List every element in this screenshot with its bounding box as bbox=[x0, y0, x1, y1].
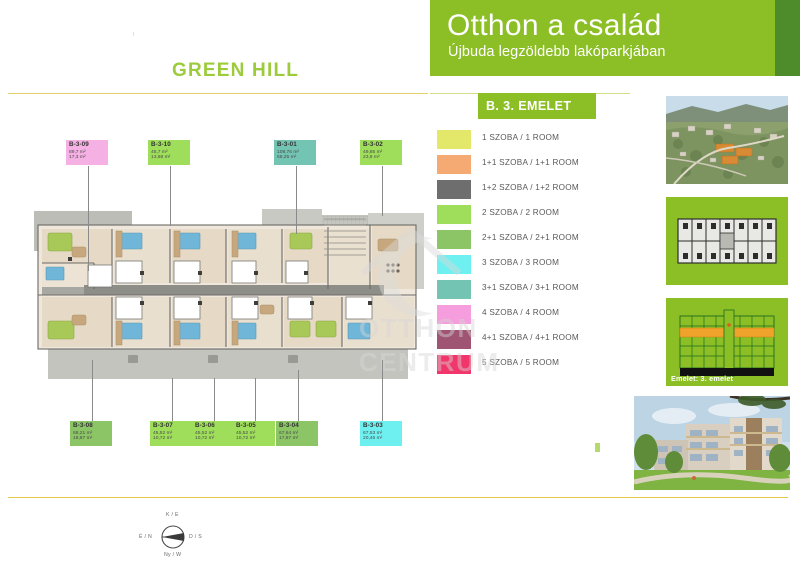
apartment-code: B-3-08 bbox=[73, 423, 112, 430]
apartment-callout[interactable]: B-3-0467,64 m²17,67 m² bbox=[276, 421, 318, 446]
callout-leader-line bbox=[92, 360, 93, 421]
header-title: Otthon a család bbox=[447, 9, 662, 43]
legend-label: 3 SZOBA / 3 ROOM bbox=[482, 258, 559, 267]
green-marker bbox=[595, 443, 600, 452]
callout-leader-line bbox=[296, 166, 297, 234]
legend-swatch bbox=[437, 155, 471, 174]
apartment-callout[interactable]: B-3-0989,7 m²17,3 m² bbox=[66, 140, 108, 165]
apartment-terrace-area: 10,72 m² bbox=[153, 436, 192, 441]
legend-label: 3+1 SZOBA / 3+1 ROOM bbox=[482, 283, 579, 292]
compass-label-left: É / N bbox=[139, 534, 152, 540]
legend-label: 1+2 SZOBA / 1+2 ROOM bbox=[482, 183, 579, 192]
apartment-terrace-area: 13,68 m² bbox=[151, 155, 190, 160]
legend-label: 5 SZOBA / 5 ROOM bbox=[482, 358, 559, 367]
floor-badge: B. 3. EMELET bbox=[478, 93, 596, 119]
apartment-code: B-3-06 bbox=[195, 423, 234, 430]
apartment-callout[interactable]: B-3-01108,76 m²58,25 m² bbox=[274, 140, 316, 165]
apartment-terrace-area: 18,87 m² bbox=[73, 436, 112, 441]
apartment-code: B-3-10 bbox=[151, 142, 190, 149]
legend-swatch bbox=[437, 255, 471, 274]
apartment-callout[interactable]: B-3-0367,53 m²20,45 m² bbox=[360, 421, 402, 446]
callout-leader-line bbox=[255, 378, 256, 421]
legend-row: 5 SZOBA / 5 ROOM bbox=[437, 353, 637, 378]
apartment-terrace-area: 17,67 m² bbox=[279, 436, 318, 441]
thumbnail-key-floor-plan[interactable] bbox=[666, 197, 788, 285]
apartment-callout[interactable]: B-3-0545,52 m²10,72 m² bbox=[233, 421, 275, 446]
compass-label-right: D / S bbox=[189, 534, 202, 540]
apartment-callout[interactable]: B-3-0249,85 m²23,9 m² bbox=[360, 140, 402, 165]
apartment-callout[interactable]: B-3-0868,21 m²18,87 m² bbox=[70, 421, 112, 446]
callout-leader-line bbox=[382, 166, 383, 216]
tiny-mark: l bbox=[133, 32, 134, 38]
legend-swatch bbox=[437, 330, 471, 349]
project-name: GREEN HILL bbox=[172, 60, 299, 82]
apartment-code: B-3-05 bbox=[236, 423, 275, 430]
callout-leader-line bbox=[382, 360, 383, 421]
apartment-code: B-3-03 bbox=[363, 423, 402, 430]
apartment-callout[interactable]: B-3-1045,7 m²13,68 m² bbox=[148, 140, 190, 165]
legend-label: 2+1 SZOBA / 2+1 ROOM bbox=[482, 233, 579, 242]
apartment-terrace-area: 17,3 m² bbox=[69, 155, 108, 160]
compass-label-top: K / E bbox=[166, 512, 179, 518]
legend-label: 1+1 SZOBA / 1+1 ROOM bbox=[482, 158, 579, 167]
floorplan-sheet: Otthon a család Újbuda legzöldebb lakópa… bbox=[0, 0, 800, 565]
legend-label: 1 SZOBA / 1 ROOM bbox=[482, 133, 559, 142]
compass-label-bottom: Ny / W bbox=[164, 552, 181, 558]
legend: 1 SZOBA / 1 ROOM1+1 SZOBA / 1+1 ROOM1+2 … bbox=[437, 128, 637, 378]
legend-label: 2 SZOBA / 2 ROOM bbox=[482, 208, 559, 217]
thumbnail-elevation-caption: Emelet: 3. emelet bbox=[666, 371, 788, 386]
thumbnail-aerial-photo[interactable] bbox=[666, 96, 788, 184]
legend-swatch bbox=[437, 280, 471, 299]
legend-row: 2 SZOBA / 2 ROOM bbox=[437, 203, 637, 228]
header-accent-block bbox=[775, 0, 800, 76]
legend-label: 4+1 SZOBA / 4+1 ROOM bbox=[482, 333, 579, 342]
apartment-terrace-area: 10,72 m² bbox=[236, 436, 275, 441]
thumbnail-elevation[interactable]: Emelet: 3. emelet bbox=[666, 298, 788, 386]
apartment-callout[interactable]: B-3-0645,52 m²10,72 m² bbox=[192, 421, 234, 446]
apartment-terrace-area: 20,45 m² bbox=[363, 436, 402, 441]
divider-bottom bbox=[8, 497, 788, 498]
header-subtitle: Újbuda legzöldebb lakóparkjában bbox=[448, 44, 666, 60]
thumbnail-exterior-render[interactable] bbox=[634, 396, 790, 490]
legend-label: 4 SZOBA / 4 ROOM bbox=[482, 308, 559, 317]
legend-row: 4+1 SZOBA / 4+1 ROOM bbox=[437, 328, 637, 353]
legend-row: 3+1 SZOBA / 3+1 ROOM bbox=[437, 278, 637, 303]
floor-badge-label: B. 3. EMELET bbox=[478, 93, 596, 113]
apartment-terrace-area: 23,9 m² bbox=[363, 155, 402, 160]
apartment-terrace-area: 58,25 m² bbox=[277, 155, 316, 160]
legend-row: 3 SZOBA / 3 ROOM bbox=[437, 253, 637, 278]
callout-leader-line bbox=[172, 378, 173, 421]
apartment-code: B-3-09 bbox=[69, 142, 108, 149]
legend-swatch bbox=[437, 230, 471, 249]
apartment-code: B-3-01 bbox=[277, 142, 316, 149]
legend-row: 1 SZOBA / 1 ROOM bbox=[437, 128, 637, 153]
legend-row: 2+1 SZOBA / 2+1 ROOM bbox=[437, 228, 637, 253]
apartment-terrace-area: 10,72 m² bbox=[195, 436, 234, 441]
legend-swatch bbox=[437, 305, 471, 324]
callout-leader-line bbox=[214, 378, 215, 421]
apartment-code: B-3-04 bbox=[279, 423, 318, 430]
legend-row: 1+1 SZOBA / 1+1 ROOM bbox=[437, 153, 637, 178]
apartment-callout[interactable]: B-3-0745,52 m²10,72 m² bbox=[150, 421, 192, 446]
apartment-code: B-3-07 bbox=[153, 423, 192, 430]
legend-row: 4 SZOBA / 4 ROOM bbox=[437, 303, 637, 328]
legend-swatch bbox=[437, 130, 471, 149]
callout-leader-line bbox=[170, 166, 171, 226]
legend-swatch bbox=[437, 355, 471, 374]
callout-leader-line bbox=[298, 370, 299, 421]
compass-rose: K / E É / N D / S Ny / W bbox=[138, 512, 208, 560]
legend-row: 1+2 SZOBA / 1+2 ROOM bbox=[437, 178, 637, 203]
apartment-code: B-3-02 bbox=[363, 142, 402, 149]
legend-swatch bbox=[437, 205, 471, 224]
legend-swatch bbox=[437, 180, 471, 199]
divider-top-left bbox=[8, 93, 428, 94]
callout-leader-line bbox=[88, 166, 89, 271]
